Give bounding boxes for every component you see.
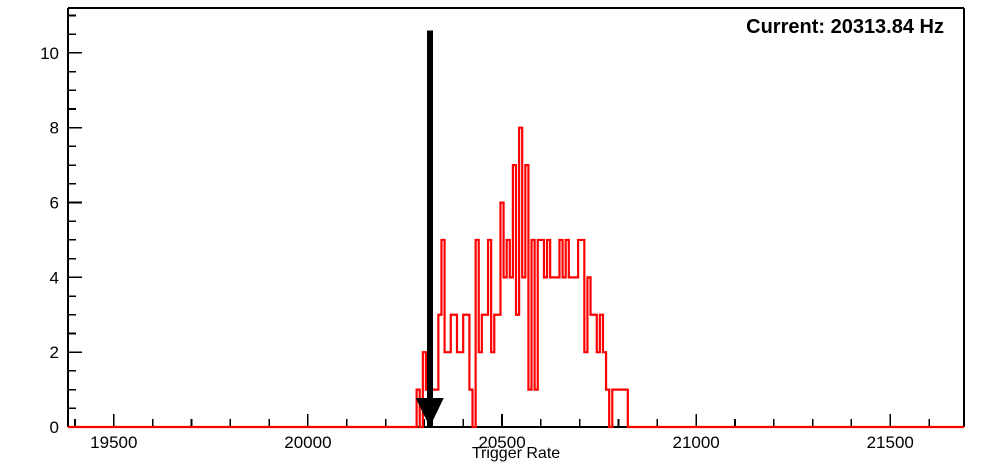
x-tick-label: 20000 (284, 433, 331, 452)
histogram-series (68, 128, 964, 427)
y-tick-label: 2 (50, 343, 59, 362)
current-value-marker (416, 30, 444, 427)
x-tick-label: 21500 (867, 433, 914, 452)
histogram-plot: 0246810 1950020000205002100021500 Trigge… (0, 0, 996, 472)
root-canvas: 0246810 1950020000205002100021500 Trigge… (0, 0, 996, 472)
current-value-label: Current: 20313.84 Hz (746, 16, 944, 38)
y-axis-ticks (68, 15, 82, 427)
y-tick-label: 8 (50, 119, 59, 138)
y-axis-tick-labels: 0246810 (40, 44, 59, 437)
y-tick-label: 10 (40, 44, 59, 63)
y-tick-label: 4 (50, 268, 59, 287)
x-tick-label: 21000 (672, 433, 719, 452)
y-tick-label: 0 (50, 418, 59, 437)
x-tick-label: 19500 (90, 433, 137, 452)
x-axis-ticks (75, 414, 929, 427)
x-axis-title: Trigger Rate (472, 445, 560, 462)
y-tick-label: 6 (50, 194, 59, 213)
